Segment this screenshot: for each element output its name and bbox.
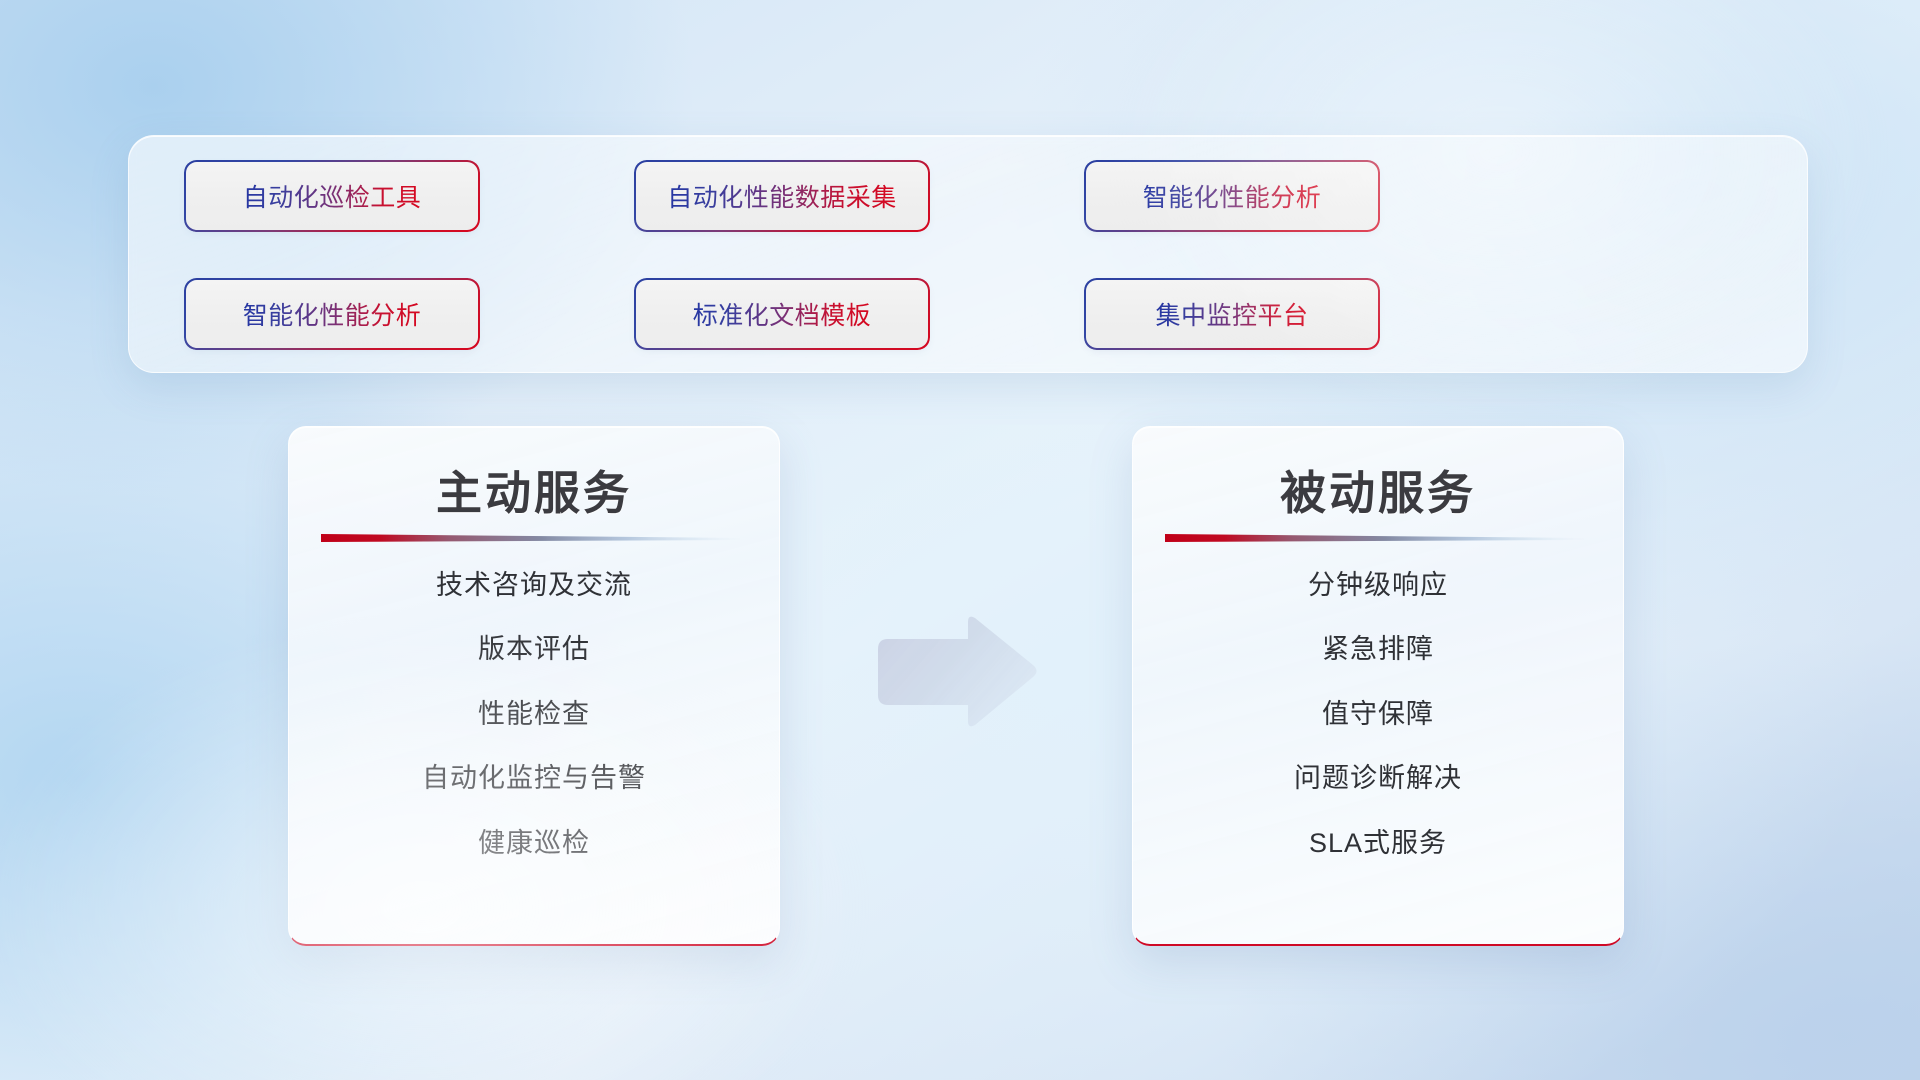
- card-list-item: 问题诊断解决: [1294, 760, 1462, 796]
- card-list-item: 技术咨询及交流: [436, 567, 632, 603]
- capability-pill-label: 智能化性能分析: [1143, 178, 1322, 214]
- card-item-list: 分钟级响应 紧急排障 值守保障 问题诊断解决 SLA式服务: [1133, 567, 1623, 861]
- card-list-item: SLA式服务: [1309, 825, 1447, 861]
- card-list-item: 分钟级响应: [1308, 567, 1448, 603]
- capability-pill-2[interactable]: 自动化性能数据采集: [636, 162, 928, 230]
- capability-pill-6[interactable]: 集中监控平台: [1086, 280, 1378, 348]
- capability-pill-4[interactable]: 智能化性能分析: [186, 280, 478, 348]
- capability-pill-label: 集中监控平台: [1155, 296, 1308, 332]
- card-title: 被动服务: [1133, 457, 1623, 523]
- card-list-item: 性能检查: [478, 696, 590, 732]
- capability-pill-3[interactable]: 智能化性能分析: [1086, 162, 1378, 230]
- card-item-list: 技术咨询及交流 版本评估 性能检查 自动化监控与告警 健康巡检: [289, 567, 779, 861]
- capability-pill-label: 自动化性能数据采集: [667, 178, 897, 214]
- card-list-item: 健康巡检: [478, 825, 590, 861]
- capability-pill-label: 智能化性能分析: [243, 296, 422, 332]
- arrow-right-icon: [872, 613, 1040, 731]
- card-list-item: 自动化监控与告警: [422, 760, 646, 796]
- capability-pill-label: 自动化巡检工具: [243, 178, 422, 214]
- card-list-item: 版本评估: [478, 631, 590, 667]
- capability-panel: 自动化巡检工具 自动化性能数据采集 智能化性能分析 智能化性能分析 标准化文档模…: [128, 135, 1808, 373]
- card-list-item: 值守保障: [1322, 696, 1434, 732]
- slide-canvas: 自动化巡检工具 自动化性能数据采集 智能化性能分析 智能化性能分析 标准化文档模…: [0, 0, 1920, 1080]
- card-title: 主动服务: [289, 457, 779, 523]
- capability-pill-grid: 自动化巡检工具 自动化性能数据采集 智能化性能分析 智能化性能分析 标准化文档模…: [186, 162, 1752, 348]
- capability-pill-label: 标准化文档模板: [693, 296, 872, 332]
- service-card-active: 主动服务 技术咨询及交流 版本评估: [288, 426, 780, 946]
- card-list-item: 紧急排障: [1322, 631, 1434, 667]
- card-divider-accent: [321, 532, 745, 544]
- capability-pill-5[interactable]: 标准化文档模板: [636, 280, 928, 348]
- capability-pill-1[interactable]: 自动化巡检工具: [186, 162, 478, 230]
- card-divider-accent: [1165, 532, 1589, 544]
- service-card-passive: 被动服务 分钟级响应 紧急排障: [1132, 426, 1624, 946]
